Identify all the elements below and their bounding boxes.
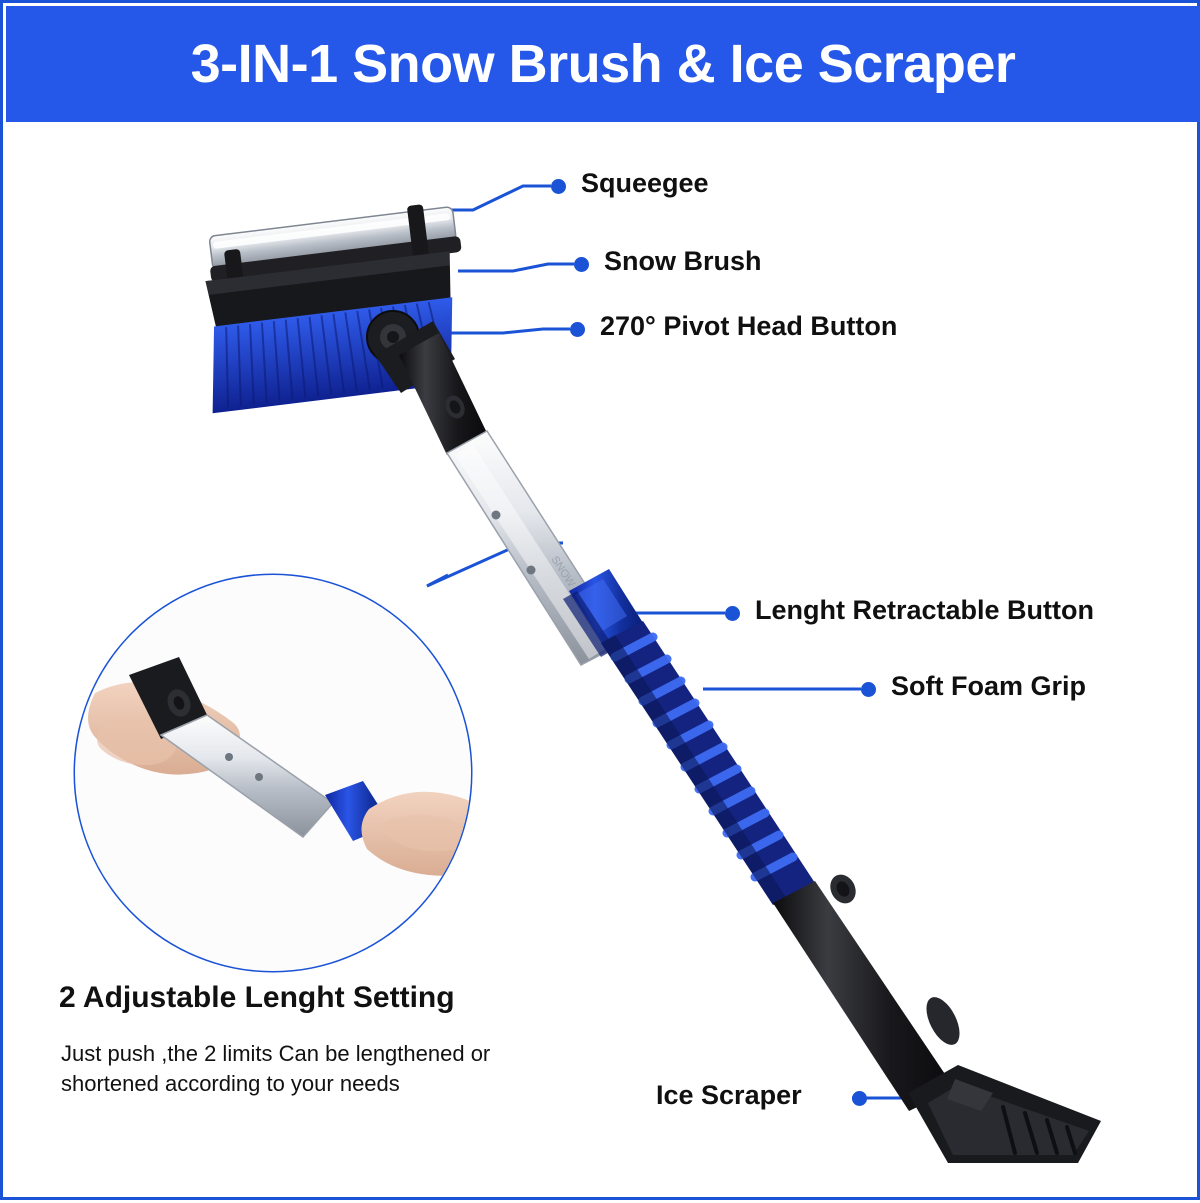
callout-dot-snow-brush — [574, 257, 589, 272]
ice-scraper-blade — [908, 1065, 1101, 1163]
pivot-head-joint — [367, 311, 455, 393]
upper-handle — [399, 333, 487, 455]
adjustable-length-body: Just push ,the 2 limits Can be lengthene… — [61, 1039, 531, 1099]
pivot-release-button — [442, 392, 469, 421]
svg-text:SNOW: SNOW — [548, 554, 577, 590]
adjustable-length-title: 2 Adjustable Lenght Setting — [59, 981, 455, 1015]
callout-label-length-retractable-button: Lenght Retractable Button — [755, 595, 1094, 626]
callout-label-soft-foam-grip: Soft Foam Grip — [891, 671, 1086, 702]
handle-thumb-pad — [920, 992, 967, 1050]
length-hole-lower — [527, 566, 536, 575]
squeegee-tab-right — [407, 204, 429, 258]
scraper-notch — [947, 1079, 993, 1111]
callout-dot-length-retractable-button — [725, 606, 740, 621]
callout-dot-ice-scraper — [852, 1091, 867, 1106]
product-infographic: 3-IN-1 Snow Brush & Ice Scraper — [0, 0, 1200, 1200]
soft-foam-grip — [601, 621, 815, 905]
aluminium-extension-tube: SNOW — [447, 431, 623, 665]
header-banner: 3-IN-1 Snow Brush & Ice Scraper — [6, 6, 1200, 122]
inset-photo — [75, 575, 503, 971]
handle-end-button — [825, 870, 860, 908]
length-retractable-button — [563, 569, 643, 657]
squeegee-blade — [206, 206, 462, 282]
length-hole-upper — [492, 511, 501, 520]
lower-handle — [773, 870, 966, 1111]
brush-bristles — [198, 297, 464, 421]
brush-backing — [205, 251, 455, 329]
callout-dot-squeegee — [551, 179, 566, 194]
callout-label-snow-brush: Snow Brush — [604, 246, 762, 277]
callout-label-ice-scraper: Ice Scraper — [656, 1080, 802, 1111]
snow-brush-head — [186, 200, 478, 422]
callout-dot-soft-foam-grip — [861, 682, 876, 697]
page-title: 3-IN-1 Snow Brush & Ice Scraper — [191, 33, 1016, 95]
callout-label-pivot-head-button: 270° Pivot Head Button — [600, 311, 897, 342]
callout-dot-pivot-head-button — [570, 322, 585, 337]
callout-label-squeegee: Squeegee — [581, 168, 709, 199]
squeegee-tab-left — [224, 249, 245, 295]
